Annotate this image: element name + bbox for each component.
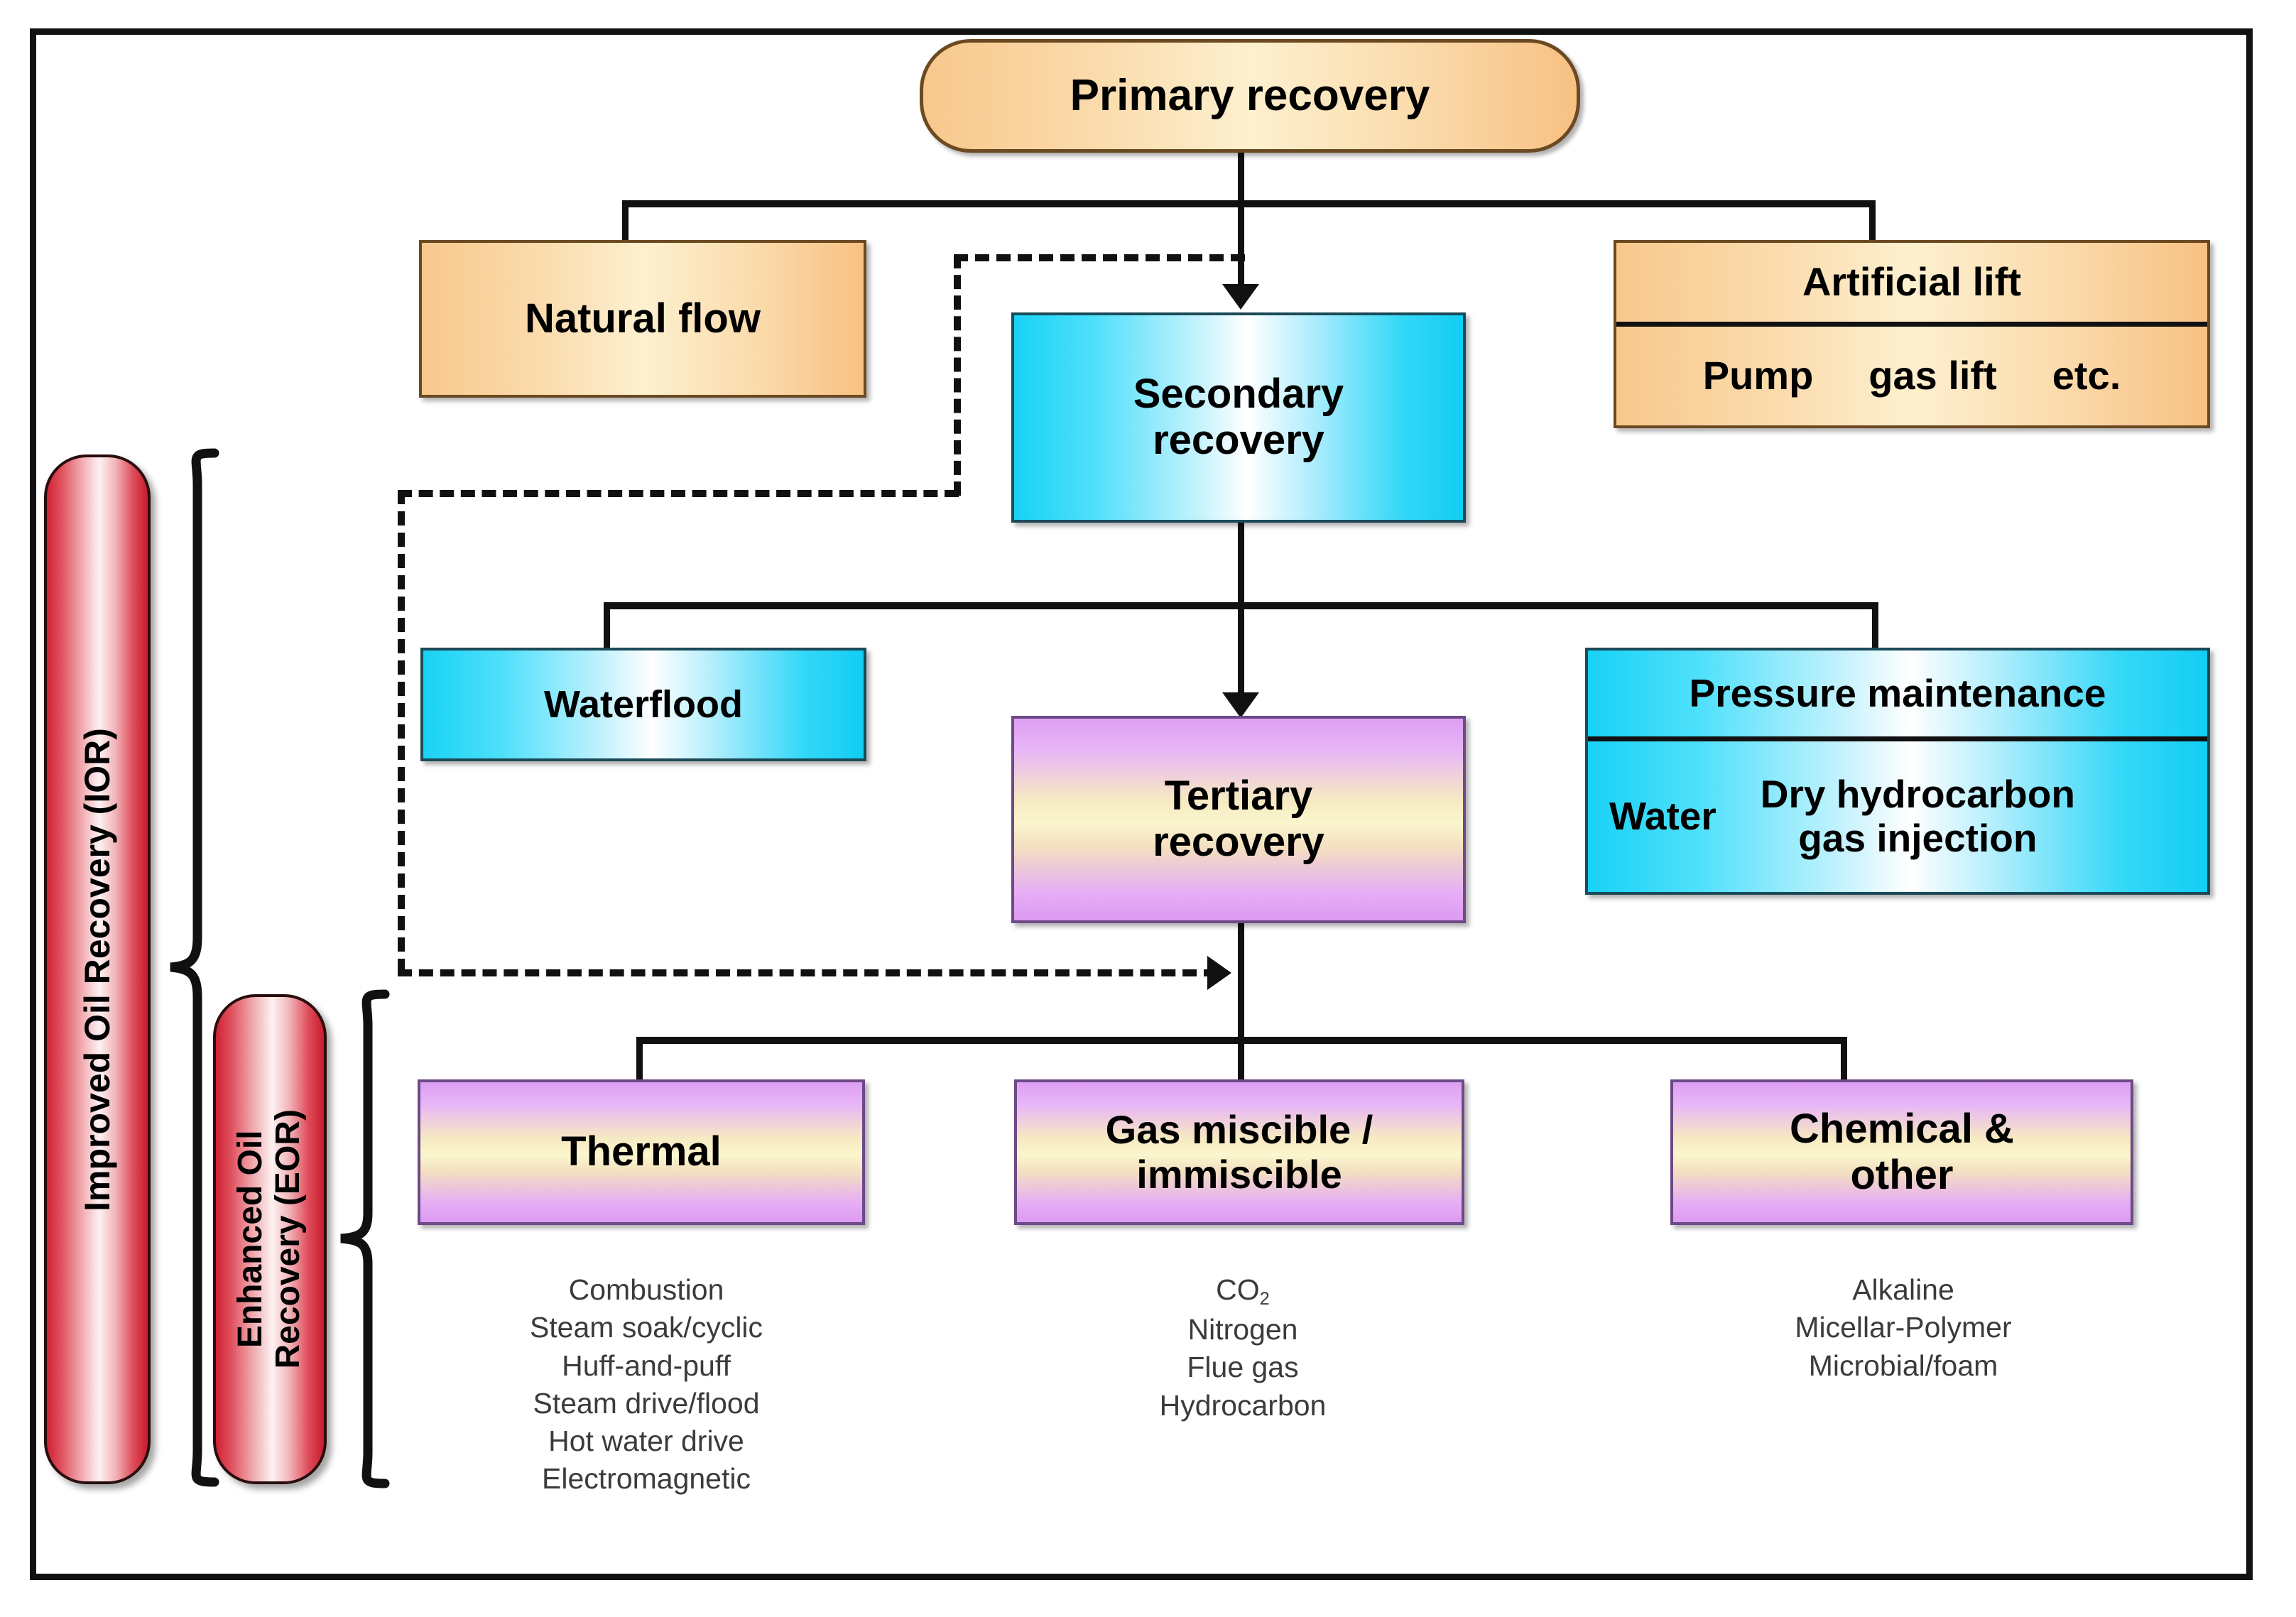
gas-method-2: Nitrogen [1037,1311,1449,1349]
gas-method-3: Flue gas [1037,1349,1449,1386]
connector-to-artificial-lift [1869,200,1876,240]
artificial-lift-items: Pump gas lift etc. [1616,327,2207,425]
artificial-lift-item-pump: Pump [1703,354,1814,398]
connector-secondary-down [1238,522,1244,714]
thermal-method-4: Steam drive/flood [440,1385,852,1422]
connector-to-waterflood [604,602,610,649]
eor-label-line1: Enhanced Oil [232,1109,270,1368]
chemical-method-1: Alkaline [1697,1271,2109,1309]
thermal-method-1: Combustion [440,1271,852,1309]
pressure-maintenance-title: Pressure maintenance [1690,672,2106,716]
eor-label: Enhanced Oil Recovery (EOR) [232,1109,308,1368]
node-primary-recovery[interactable]: Primary recovery [920,39,1580,153]
gas-miscible-label-line2: immiscible [1136,1153,1342,1197]
connector-top-bus [625,200,1875,207]
connector-to-pressure-maintenance [1872,602,1878,649]
thermal-method-3: Huff-and-puff [440,1347,852,1385]
diagram-canvas: Primary recovery Natural flow Artificial… [0,0,2296,1617]
dashed-path-top [954,254,1245,261]
gas-method-4: Hydrocarbon [1037,1387,1449,1425]
node-secondary-recovery[interactable]: Secondary recovery [1011,312,1466,523]
waterflood-label: Waterflood [544,683,743,726]
gas-miscible-label-line1: Gas miscible / [1106,1108,1373,1153]
arrow-primary-to-secondary [1222,284,1259,310]
connector-tertiary-down [1238,923,1244,1047]
dashed-path-left-vertical [398,490,405,973]
pressure-maintenance-items: Water Dry hydrocarbon gas injection [1588,741,2207,892]
artificial-lift-item-etc: etc. [2052,354,2121,398]
eor-label-line2: Recovery (EOR) [270,1109,308,1368]
node-thermal[interactable]: Thermal [418,1079,865,1225]
thermal-method-6: Electromagnetic [440,1460,852,1498]
connector-to-thermal [636,1037,643,1085]
gas-method-1: CO2 [1037,1271,1449,1311]
arrow-dashed-to-eor [1207,956,1231,990]
connector-secondary-bus [606,602,1878,609]
dashed-path-bottom [398,969,1218,976]
node-chemical-other[interactable]: Chemical & other [1670,1079,2133,1225]
pressure-maintenance-item-water: Water [1609,795,1716,839]
node-pressure-maintenance[interactable]: Pressure maintenance Water Dry hydrocarb… [1585,648,2210,895]
gas-injection-line2: gas injection [1761,817,2075,861]
gas-injection-line1: Dry hydrocarbon [1761,773,2075,817]
artificial-lift-item-gas-lift: gas lift [1868,354,1996,398]
node-natural-flow[interactable]: Natural flow [419,240,866,398]
thermal-method-5: Hot water drive [440,1422,852,1460]
connector-to-natural-flow [622,200,629,240]
tertiary-recovery-label-line1: Tertiary [1165,773,1312,820]
thermal-label: Thermal [561,1129,722,1175]
chemical-method-2: Micellar-Polymer [1697,1309,2109,1346]
node-artificial-lift[interactable]: Artificial lift Pump gas lift etc. [1614,240,2210,428]
chemical-other-label-line2: other [1851,1153,1954,1199]
arrow-secondary-to-tertiary [1222,692,1259,718]
node-waterflood[interactable]: Waterflood [420,648,866,761]
pressure-maintenance-header: Pressure maintenance [1588,650,2207,741]
artificial-lift-title: Artificial lift [1802,260,2021,305]
node-tertiary-recovery[interactable]: Tertiary recovery [1011,716,1466,923]
ior-label: Improved Oil Recovery (IOR) [78,728,117,1212]
cylinder-improved-oil-recovery[interactable]: Improved Oil Recovery (IOR) [44,454,151,1484]
pressure-maintenance-item-gas-injection: Dry hydrocarbon gas injection [1761,773,2075,860]
connector-primary-down [1238,151,1244,207]
list-thermal-methods: Combustion Steam soak/cyclic Huff-and-pu… [440,1271,852,1498]
secondary-recovery-label-line1: Secondary [1133,371,1344,418]
natural-flow-label: Natural flow [525,296,761,342]
thermal-method-2: Steam soak/cyclic [440,1309,852,1346]
dashed-path-upper-vertical [954,254,961,496]
chemical-other-label-line1: Chemical & [1790,1106,2014,1153]
list-chemical-methods: Alkaline Micellar-Polymer Microbial/foam [1697,1271,2109,1385]
list-gas-methods: CO2 Nitrogen Flue gas Hydrocarbon [1037,1271,1449,1425]
tertiary-recovery-label-line2: recovery [1153,820,1324,866]
primary-recovery-label: Primary recovery [1070,71,1430,120]
secondary-recovery-label-line2: recovery [1153,418,1324,464]
artificial-lift-header: Artificial lift [1616,243,2207,327]
connector-to-chemical [1841,1037,1847,1085]
connector-to-gas-miscible [1238,1037,1244,1085]
node-gas-miscible[interactable]: Gas miscible / immiscible [1014,1079,1464,1225]
connector-primary-to-secondary [1238,200,1244,293]
co2-subscript: 2 [1260,1289,1270,1309]
brace-eor [335,989,392,1489]
cylinder-enhanced-oil-recovery[interactable]: Enhanced Oil Recovery (EOR) [213,994,327,1484]
chemical-method-3: Microbial/foam [1697,1347,2109,1385]
dashed-path-middle [398,490,959,497]
